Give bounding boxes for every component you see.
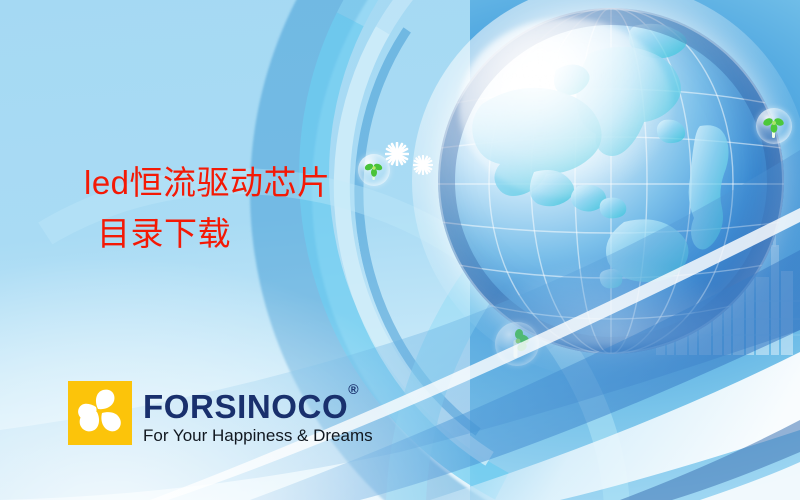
headline-line-1: led恒流驱动芯片 xyxy=(84,164,331,201)
pinwheel-glyph xyxy=(68,381,132,445)
windmill-icon xyxy=(756,108,792,144)
promo-banner: led恒流驱动芯片 目录下载 FORSINOCO® For Your Happi… xyxy=(0,0,800,500)
page-title: led恒流驱动芯片 目录下载 xyxy=(84,166,504,250)
brand-word: FORSINOCO xyxy=(143,388,348,425)
brand-tagline: For Your Happiness & Dreams xyxy=(143,426,373,446)
brand-name: FORSINOCO® xyxy=(143,383,373,425)
four-petal-pinwheel-icon xyxy=(68,381,132,445)
brand-logo[interactable]: FORSINOCO® For Your Happiness & Dreams xyxy=(68,381,373,446)
bubble-windmill-icon xyxy=(756,108,792,144)
headline-line-2: 目录下载 xyxy=(97,217,504,250)
bubble-windmill-icon xyxy=(495,322,539,366)
windmill-icon xyxy=(495,322,539,366)
registered-mark: ® xyxy=(348,381,359,397)
logo-text-block: FORSINOCO® For Your Happiness & Dreams xyxy=(143,381,373,446)
background-bottom-wash xyxy=(0,260,480,500)
